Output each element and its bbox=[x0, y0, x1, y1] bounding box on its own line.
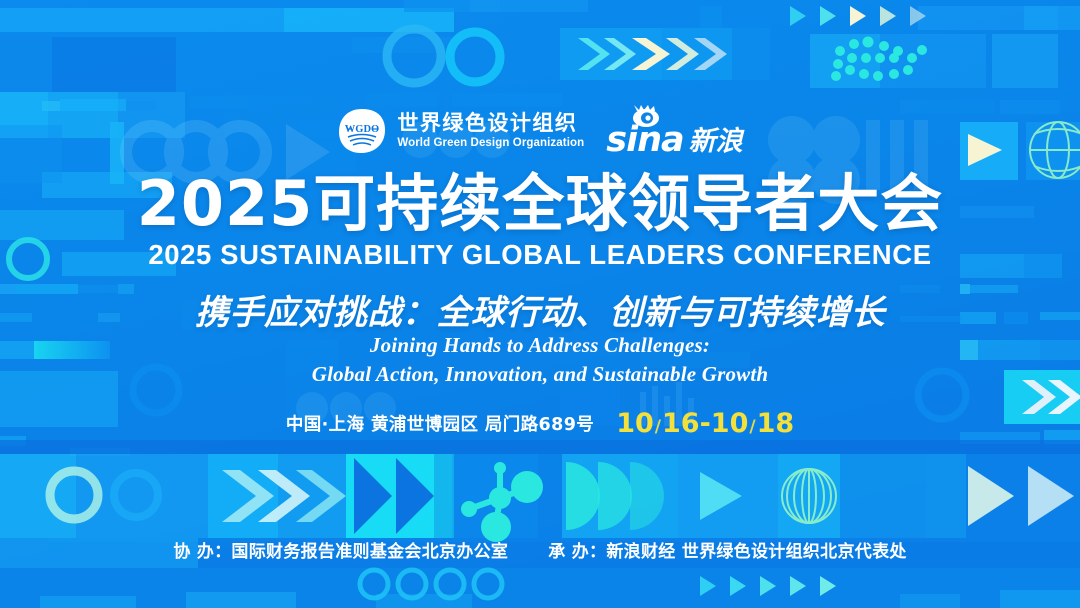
conference-date: 10 / 16 - 10 / 18 bbox=[616, 408, 794, 439]
wgdo-name-cn: 世界绿色设计组织 bbox=[397, 113, 584, 134]
theme-cn: 携手应对挑战：全球行动、创新与可持续增长 bbox=[0, 285, 1080, 334]
date-end-day: 18 bbox=[757, 408, 795, 439]
sina-name-cn: 新浪 bbox=[689, 128, 743, 157]
theme-en-line1: Joining Hands to Address Challenges: bbox=[0, 331, 1080, 360]
date-end-month: 10 bbox=[711, 408, 749, 439]
main-title-en: 2025 SUSTAINABILITY GLOBAL LEADERS CONFE… bbox=[0, 239, 1080, 271]
sina-logo: sina 新浪 bbox=[606, 105, 742, 157]
logo-row: WGDO 世界绿色设计组织 World Green Design Organiz… bbox=[0, 105, 1080, 157]
venue-location: 中国·上海 黄浦世博园区 局门路689号 bbox=[286, 411, 594, 436]
venue-date-row: 中国·上海 黄浦世博园区 局门路689号 10 / 16 - 10 / 18 bbox=[0, 408, 1080, 439]
date-separator: - bbox=[700, 408, 711, 439]
conference-poster: WGDO 世界绿色设计组织 World Green Design Organiz… bbox=[0, 0, 1080, 608]
wgdo-leaf-icon: WGDO bbox=[337, 106, 387, 156]
co-organizer-text: 协 办：国际财务报告准则基金会北京办公室 bbox=[173, 537, 508, 562]
wgdo-name-en: World Green Design Organization bbox=[397, 138, 584, 150]
host-text: 承 办：新浪财经 世界绿色设计组织北京代表处 bbox=[548, 537, 906, 562]
main-title-cn: 2025可持续全球领导者大会 bbox=[0, 173, 1080, 235]
theme-en-line2: Global Action, Innovation, and Sustainab… bbox=[0, 360, 1080, 389]
date-slash-1: / bbox=[654, 417, 662, 437]
date-start-day: 16 bbox=[662, 408, 700, 439]
theme-en: Joining Hands to Address Challenges: Glo… bbox=[0, 331, 1080, 390]
wgdo-logo: WGDO 世界绿色设计组织 World Green Design Organiz… bbox=[337, 106, 584, 156]
date-slash-2: / bbox=[748, 417, 756, 437]
footer-organizers: 协 办：国际财务报告准则基金会北京办公室 承 办：新浪财经 世界绿色设计组织北京… bbox=[0, 537, 1080, 562]
date-start-month: 10 bbox=[616, 408, 654, 439]
sina-name-en: sina bbox=[606, 125, 683, 157]
